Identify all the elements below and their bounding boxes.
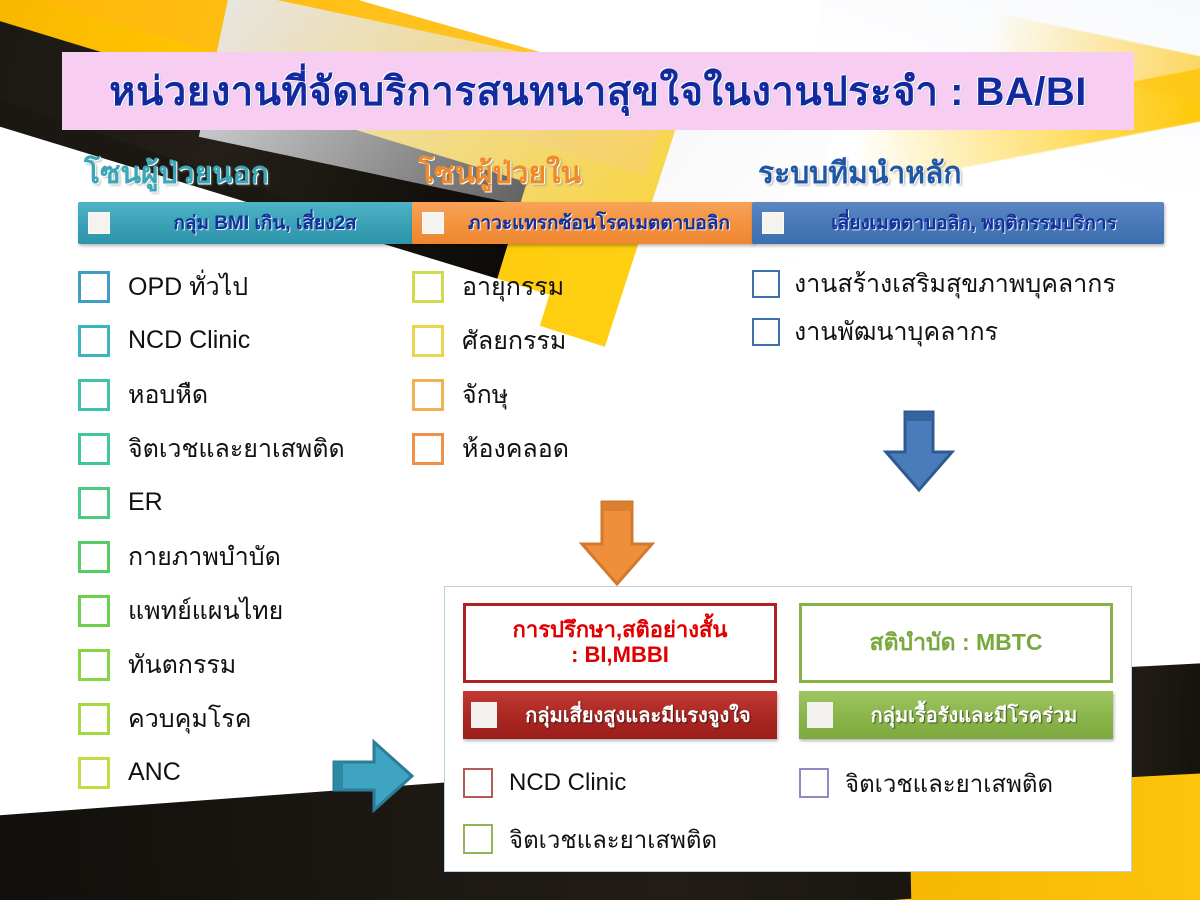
list-item[interactable]: NCD Clinic [463, 755, 777, 811]
panel-group-mbtc: สติบำบัด : MBTC กลุ่มเรื้อรังและมีโรคร่ว… [799, 603, 1113, 867]
list-inpatient: อายุกรรม ศัลยกรรม จักษุ ห้องคลอด [412, 260, 742, 476]
list-outpatient: OPD ทั่วไป NCD Clinic หอบหืด จิตเวชและยา… [78, 260, 408, 800]
checkbox-icon[interactable] [78, 649, 110, 681]
panel-box-line: การปรึกษา,สติอย่างสั้น [513, 618, 728, 643]
panel-box-line: สติบำบัด : MBTC [870, 630, 1043, 656]
list-item-label: ANC [128, 758, 181, 787]
list-item-label: แพทย์แผนไทย [128, 591, 283, 631]
list-item-label: จิตเวชและยาเสพติด [845, 764, 1053, 803]
list-item-label: ควบคุมโรค [128, 699, 251, 739]
caption-checkbox-icon[interactable] [762, 212, 784, 234]
list-item[interactable]: อายุกรรม [412, 260, 742, 314]
list-item[interactable]: งานสร้างเสริมสุขภาพบุคลากร [752, 260, 1152, 308]
list-item-label: NCD Clinic [128, 326, 250, 355]
teal-right-arrow-icon [330, 736, 416, 821]
panel-bar-chronic[interactable]: กลุ่มเรื้อรังและมีโรคร่วม [799, 691, 1113, 739]
panel-list-chronic: จิตเวชและยาเสพติด [799, 755, 1113, 811]
column-heading-outpatient: โซนผู้ป่วยนอก [84, 158, 408, 190]
list-item[interactable]: แพทย์แผนไทย [78, 584, 408, 638]
panel-bar-label: กลุ่มเรื้อรังและมีโรคร่วม [843, 699, 1105, 731]
caption-checkbox-icon[interactable] [422, 212, 444, 234]
panel-group-brief-intervention: การปรึกษา,สติอย่างสั้น : BI,MBBI กลุ่มเส… [463, 603, 777, 867]
checkbox-icon[interactable] [412, 271, 444, 303]
panel-columns: การปรึกษา,สติอย่างสั้น : BI,MBBI กลุ่มเส… [445, 587, 1131, 867]
list-item-label: จิตเวชและยาเสพติด [509, 820, 717, 859]
checkbox-icon[interactable] [78, 271, 110, 303]
panel-bar-checkbox-icon[interactable] [807, 702, 833, 728]
list-item[interactable]: จิตเวชและยาเสพติด [78, 422, 408, 476]
column-inpatient-zone: โซนผู้ป่วยใน ภาวะแทรกซ้อนโรคเมตตาบอลิก อ… [412, 158, 742, 476]
column-heading-inpatient: โซนผู้ป่วยใน [418, 158, 742, 190]
panel-bar-label: กลุ่มเสี่ยงสูงและมีแรงจูงใจ [507, 699, 769, 731]
checkbox-icon[interactable] [799, 768, 829, 798]
panel-bar-checkbox-icon[interactable] [471, 702, 497, 728]
blue-down-arrow-icon [880, 408, 958, 499]
column-outpatient-zone: โซนผู้ป่วยนอก กลุ่ม BMI เกิน, เสี่ยง2ส O… [78, 158, 408, 800]
list-item[interactable]: NCD Clinic [78, 314, 408, 368]
list-item-label: ห้องคลอด [462, 429, 569, 469]
caption-bar-label: ภาวะแทรกซ้อนโรคเมตตาบอลิก [454, 208, 744, 238]
list-item-label: หอบหืด [128, 375, 208, 415]
list-item-label: ER [128, 488, 163, 517]
list-item[interactable]: งานพัฒนาบุคลากร [752, 308, 1152, 356]
caption-checkbox-icon[interactable] [88, 212, 110, 234]
caption-bar-lead-team[interactable]: เสี่ยงเมตตาบอลิก, พฤติกรรมบริการ [752, 202, 1164, 244]
list-item[interactable]: จักษุ [412, 368, 742, 422]
checkbox-icon[interactable] [78, 757, 110, 789]
list-item-label: NCD Clinic [509, 769, 626, 797]
checkbox-icon[interactable] [78, 433, 110, 465]
list-item-label: ศัลยกรรม [462, 321, 566, 361]
list-item-label: ทันตกรรม [128, 645, 236, 685]
checkbox-icon[interactable] [78, 595, 110, 627]
panel-box-mbtc: สติบำบัด : MBTC [799, 603, 1113, 683]
list-item[interactable]: ห้องคลอด [412, 422, 742, 476]
caption-bar-outpatient[interactable]: กลุ่ม BMI เกิน, เสี่ยง2ส [78, 202, 420, 244]
list-item[interactable]: หอบหืด [78, 368, 408, 422]
checkbox-icon[interactable] [78, 325, 110, 357]
list-lead-team: งานสร้างเสริมสุขภาพบุคลากร งานพัฒนาบุคลา… [752, 260, 1152, 356]
caption-bar-inpatient[interactable]: ภาวะแทรกซ้อนโรคเมตตาบอลิก [412, 202, 754, 244]
column-lead-team-system: ระบบทีมนำหลัก เสี่ยงเมตตาบอลิก, พฤติกรรม… [752, 158, 1152, 356]
list-item[interactable]: จิตเวชและยาเสพติด [463, 811, 777, 867]
checkbox-icon[interactable] [412, 325, 444, 357]
checkbox-icon[interactable] [412, 379, 444, 411]
list-item-label: OPD ทั่วไป [128, 267, 248, 307]
checkbox-icon[interactable] [463, 824, 493, 854]
checkbox-icon[interactable] [752, 318, 780, 346]
panel-box-line: : BI,MBBI [571, 643, 669, 668]
slide-title-band: หน่วยงานที่จัดบริการสนทนาสุขใจในงานประจำ… [62, 52, 1134, 130]
list-item[interactable]: ER [78, 476, 408, 530]
caption-bar-label: กลุ่ม BMI เกิน, เสี่ยง2ส [120, 208, 410, 238]
list-item-label: อายุกรรม [462, 267, 564, 307]
list-item[interactable]: ทันตกรรม [78, 638, 408, 692]
checkbox-icon[interactable] [412, 433, 444, 465]
orange-down-arrow-icon [576, 498, 658, 593]
list-item[interactable]: ศัลยกรรม [412, 314, 742, 368]
slide-canvas: หน่วยงานที่จัดบริการสนทนาสุขใจในงานประจำ… [0, 0, 1200, 900]
list-item-label: จิตเวชและยาเสพติด [128, 429, 345, 469]
intervention-panel: การปรึกษา,สติอย่างสั้น : BI,MBBI กลุ่มเส… [444, 586, 1132, 872]
panel-bar-high-risk[interactable]: กลุ่มเสี่ยงสูงและมีแรงจูงใจ [463, 691, 777, 739]
checkbox-icon[interactable] [752, 270, 780, 298]
list-item[interactable]: OPD ทั่วไป [78, 260, 408, 314]
checkbox-icon[interactable] [78, 379, 110, 411]
checkbox-icon[interactable] [78, 703, 110, 735]
list-item-label: จักษุ [462, 375, 508, 415]
checkbox-icon[interactable] [463, 768, 493, 798]
page-title: หน่วยงานที่จัดบริการสนทนาสุขใจในงานประจำ… [109, 59, 1087, 123]
panel-box-brief-intervention: การปรึกษา,สติอย่างสั้น : BI,MBBI [463, 603, 777, 683]
list-item-label: งานสร้างเสริมสุขภาพบุคลากร [794, 264, 1116, 304]
list-item-label: กายภาพบำบัด [128, 537, 281, 577]
list-item-label: งานพัฒนาบุคลากร [794, 312, 998, 352]
checkbox-icon[interactable] [78, 487, 110, 519]
panel-list-high-risk: NCD Clinic จิตเวชและยาเสพติด [463, 755, 777, 867]
list-item[interactable]: จิตเวชและยาเสพติด [799, 755, 1113, 811]
column-heading-lead-team: ระบบทีมนำหลัก [758, 158, 1152, 190]
list-item[interactable]: กายภาพบำบัด [78, 530, 408, 584]
caption-bar-label: เสี่ยงเมตตาบอลิก, พฤติกรรมบริการ [794, 208, 1154, 238]
checkbox-icon[interactable] [78, 541, 110, 573]
